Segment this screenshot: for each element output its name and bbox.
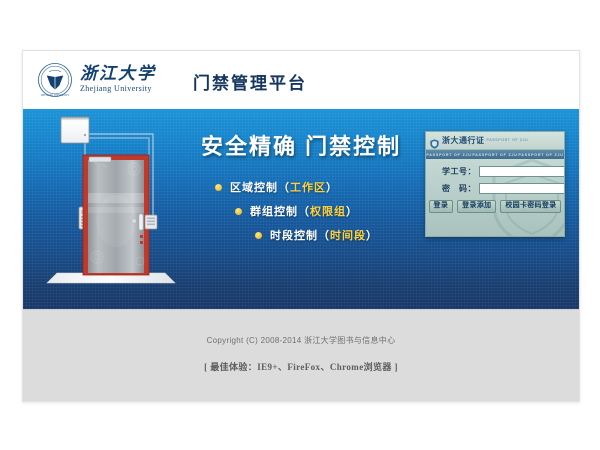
login-button[interactable]: 登录 bbox=[429, 200, 454, 213]
password-row: 密 码： bbox=[434, 183, 556, 194]
banner-headline: 安全精确 门禁控制 bbox=[201, 129, 401, 161]
browser-support-note: [ 最佳体验：IE9+、FireFox、Chrome浏览器 ] bbox=[23, 360, 579, 373]
login-panel-subtitle: PASSPORT OF ZJU bbox=[487, 139, 529, 143]
hero-banner: 安全精确 门禁控制 区域控制（工作区） 群组控制（权限组） 时段控制（时间段） bbox=[23, 109, 579, 309]
logo-name-en: Zhejiang University bbox=[80, 84, 156, 94]
list-item: 时段控制（时间段） bbox=[255, 227, 401, 243]
strip-word: PASSPORT OF ZJU bbox=[518, 153, 563, 157]
feature-tail: ） bbox=[366, 227, 378, 243]
page-container: ZHEJIANG UNIVERSITY 浙江大学 Zhejiang Univer… bbox=[22, 50, 580, 402]
site-header: ZHEJIANG UNIVERSITY 浙江大学 Zhejiang Univer… bbox=[23, 51, 579, 109]
list-item: 区域控制（工作区） bbox=[215, 179, 401, 195]
login-button-row: 登录 登录添加 校园卡密码登录 bbox=[434, 200, 556, 213]
feature-highlight: 权限组 bbox=[310, 203, 346, 219]
gold-dot-icon bbox=[255, 232, 262, 239]
feature-tail: ） bbox=[346, 203, 358, 219]
login-panel: 浙大通行证 PASSPORT OF ZJU PASSPORT OF ZJU PA… bbox=[425, 131, 565, 237]
username-label: 学工号： bbox=[434, 166, 479, 177]
username-field[interactable] bbox=[479, 166, 565, 177]
feature-highlight: 工作区 bbox=[290, 179, 326, 195]
logo-wordmark: 浙江大学 Zhejiang University bbox=[80, 65, 156, 94]
banner-feature-list: 区域控制（工作区） 群组控制（权限组） 时段控制（时间段） bbox=[201, 179, 401, 243]
banner-copy: 安全精确 门禁控制 区域控制（工作区） 群组控制（权限组） 时段控制（时间段） bbox=[201, 129, 401, 259]
login-panel-header: 浙大通行证 PASSPORT OF ZJU bbox=[426, 132, 564, 150]
username-row: 学工号： bbox=[434, 166, 556, 177]
feature-text: 区域控制（ bbox=[230, 179, 290, 195]
site-footer: Copyright (C) 2008-2014 浙江大学图书与信息中心 [ 最佳… bbox=[23, 309, 579, 401]
feature-text: 群组控制（ bbox=[250, 203, 310, 219]
login-panel-title: 浙大通行证 bbox=[442, 137, 485, 145]
zju-seal-icon: ZHEJIANG UNIVERSITY bbox=[37, 62, 73, 98]
logo-name-cn: 浙江大学 bbox=[80, 65, 156, 83]
feature-tail: ） bbox=[326, 179, 338, 195]
strip-word: PASSPORT OF ZJU bbox=[472, 153, 517, 157]
shield-icon bbox=[430, 136, 439, 146]
svg-text:ZHEJIANG UNIVERSITY: ZHEJIANG UNIVERSITY bbox=[41, 94, 69, 97]
page-title: 门禁管理平台 bbox=[193, 69, 307, 94]
campus-card-login-button[interactable]: 校园卡密码登录 bbox=[500, 200, 561, 213]
feature-text: 时段控制（ bbox=[270, 227, 330, 243]
copyright-text: Copyright (C) 2008-2014 浙江大学图书与信息中心 bbox=[23, 310, 579, 346]
gold-dot-icon bbox=[215, 184, 222, 191]
access-control-door-icon bbox=[41, 111, 191, 301]
password-field[interactable] bbox=[479, 183, 565, 194]
feature-highlight: 时间段 bbox=[330, 227, 366, 243]
gold-dot-icon bbox=[235, 208, 242, 215]
login-add-button[interactable]: 登录添加 bbox=[457, 200, 496, 213]
password-label: 密 码： bbox=[434, 183, 479, 194]
list-item: 群组控制（权限组） bbox=[235, 203, 401, 219]
passport-strip: PASSPORT OF ZJU PASSPORT OF ZJU PASSPORT… bbox=[426, 150, 564, 159]
university-logo[interactable]: ZHEJIANG UNIVERSITY 浙江大学 Zhejiang Univer… bbox=[37, 62, 156, 98]
strip-word: PASSPORT OF ZJU bbox=[426, 153, 471, 157]
login-form: 学工号： 密 码： 登录 登录添加 校园卡密码登录 bbox=[426, 159, 564, 213]
